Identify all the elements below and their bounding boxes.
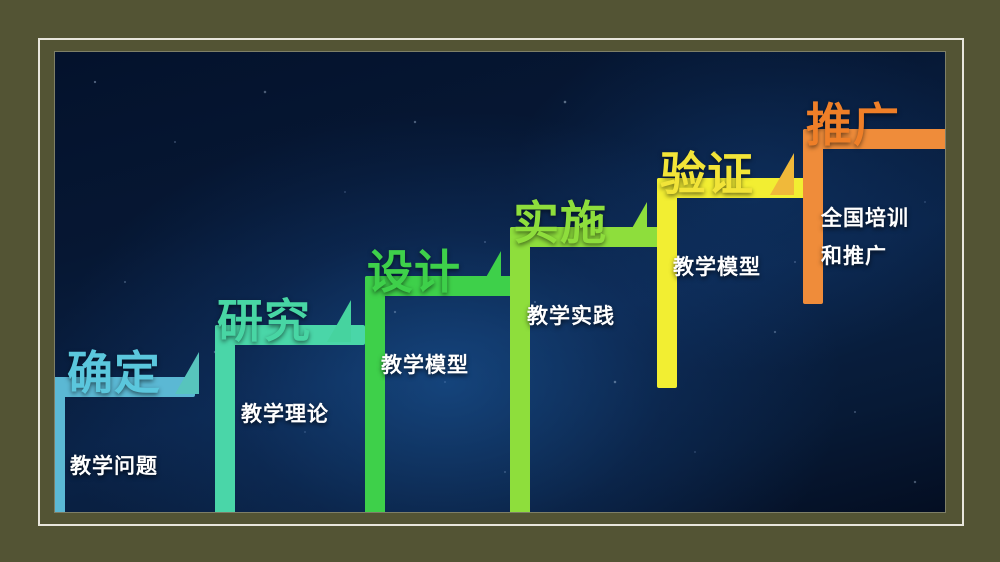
step-2-title: 研究 — [217, 298, 311, 344]
step-6-title: 推广 — [806, 102, 900, 148]
step-6-vertical-leg — [803, 129, 823, 304]
step-1-title: 确定 — [67, 350, 161, 396]
step-5-title: 验证 — [660, 151, 754, 197]
step-1-caption: 教学问题 — [70, 454, 158, 480]
step-1-vertical-leg — [55, 377, 65, 512]
step-5-vertical-leg — [657, 178, 677, 388]
step-3-vertical-leg — [365, 276, 385, 512]
step-2-caption: 教学理论 — [241, 402, 329, 428]
step-3-caption: 教学模型 — [381, 353, 469, 379]
step-3-title: 设计 — [367, 249, 461, 295]
slide-root: 确定 教学问题 研究 教学理论 设计 教学模型 实施 教学实践 — [0, 0, 1000, 562]
step-4-vertical-leg — [510, 227, 530, 512]
slide-canvas: 确定 教学问题 研究 教学理论 设计 教学模型 实施 教学实践 — [55, 52, 945, 512]
step-4-caption: 教学实践 — [527, 304, 615, 330]
step-6-caption-line1: 全国培训 — [821, 206, 909, 232]
step-6-caption-line2: 和推广 — [821, 244, 887, 270]
step-2-vertical-leg — [215, 325, 235, 512]
step-5-caption: 教学模型 — [673, 255, 761, 281]
step-4-title: 实施 — [513, 200, 607, 246]
